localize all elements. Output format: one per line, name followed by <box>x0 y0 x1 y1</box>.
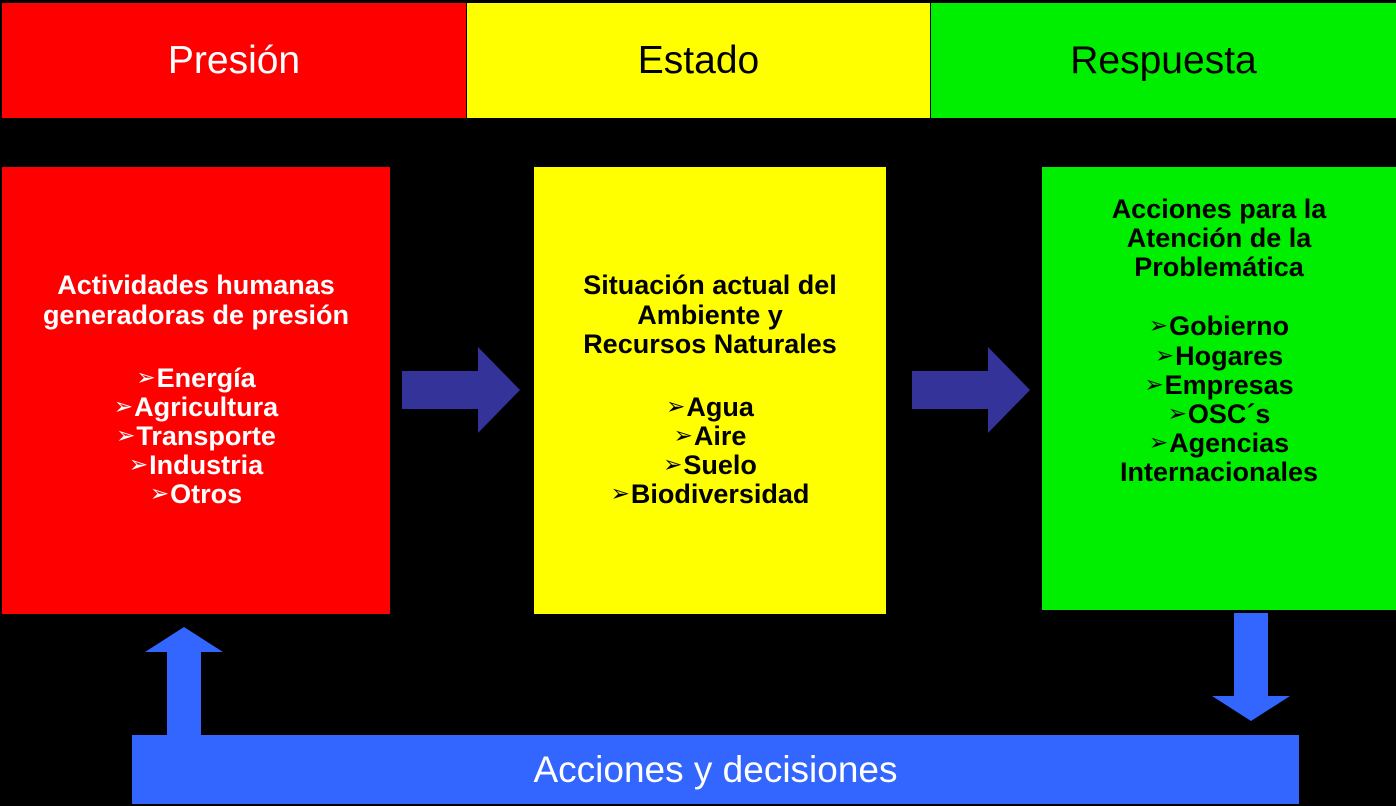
up-arrow-icon-feedback <box>145 627 223 735</box>
list-item-label: Gobierno <box>1169 311 1289 341</box>
bullet-arrow-icon: ➢ <box>116 423 135 449</box>
list-item-label: Otros <box>170 479 242 509</box>
list-item-label: Agua <box>686 392 754 422</box>
bullet-arrow-icon: ➢ <box>663 452 682 478</box>
list-item: ➢Gobierno <box>1050 312 1388 341</box>
down-arrow-icon-response <box>1212 613 1290 721</box>
panel-pressure-list: ➢Energía ➢Agricultura ➢Transporte ➢Indus… <box>10 364 382 510</box>
diagram-canvas: Presión Estado Respuesta Actividades hum… <box>0 0 1396 806</box>
bullet-arrow-icon: ➢ <box>666 394 685 420</box>
list-item-label: Aire <box>694 421 747 451</box>
list-item: ➢Hogares <box>1050 342 1388 371</box>
list-item-label: Suelo <box>683 450 757 480</box>
bullet-arrow-icon: ➢ <box>674 423 693 449</box>
bullet-arrow-icon: ➢ <box>1168 401 1187 427</box>
right-arrow-icon-pressure-to-state <box>402 347 520 433</box>
header-pressure: Presión <box>2 3 466 118</box>
list-item-label: Agricultura <box>134 392 278 422</box>
bullet-arrow-icon: ➢ <box>114 394 133 420</box>
list-item: ➢Suelo <box>542 451 878 480</box>
spacer <box>542 359 878 393</box>
list-item: ➢Agricultura <box>10 393 382 422</box>
bullet-arrow-icon: ➢ <box>1144 372 1163 398</box>
list-item: ➢Otros <box>10 480 382 509</box>
list-item: ➢Aire <box>542 422 878 451</box>
bullet-arrow-icon: ➢ <box>1149 313 1168 339</box>
header-state-label: Estado <box>638 41 759 80</box>
list-item: ➢Industria <box>10 451 382 480</box>
right-arrow-icon-state-to-response <box>912 347 1030 433</box>
bottom-bar-label: Acciones y decisiones <box>533 751 897 788</box>
panel-pressure-title: Actividades humanas generadoras de presi… <box>10 271 382 329</box>
bullet-arrow-icon: ➢ <box>1155 343 1174 369</box>
list-item-label: Biodiversidad <box>631 479 810 509</box>
list-item-label: Empresas <box>1165 370 1294 400</box>
header-pressure-label: Presión <box>168 41 300 80</box>
list-item: ➢Agua <box>542 393 878 422</box>
bullet-arrow-icon: ➢ <box>611 481 630 507</box>
list-item: ➢Transporte <box>10 422 382 451</box>
spacer <box>1050 282 1388 312</box>
panel-state: Situación actual del Ambiente y Recursos… <box>534 167 886 614</box>
header-response: Respuesta <box>931 3 1396 118</box>
header-state: Estado <box>467 3 930 118</box>
bullet-arrow-icon: ➢ <box>150 481 169 507</box>
list-item-label: Transporte <box>136 421 276 451</box>
bullet-arrow-icon: ➢ <box>1149 430 1168 456</box>
list-item-label: Energía <box>157 363 256 393</box>
panel-response: Acciones para la Atención de la Problemá… <box>1042 167 1396 610</box>
list-item: ➢Agencias Internacionales <box>1050 429 1388 487</box>
list-item: ➢Energía <box>10 364 382 393</box>
list-item: ➢OSC´s <box>1050 400 1388 429</box>
panel-state-list: ➢Agua ➢Aire ➢Suelo ➢Biodiversidad <box>542 393 878 510</box>
list-item: ➢Biodiversidad <box>542 480 878 509</box>
bottom-bar-actions-decisions: Acciones y decisiones <box>132 735 1299 804</box>
bullet-arrow-icon: ➢ <box>136 365 155 391</box>
list-item-label: Hogares <box>1175 341 1283 371</box>
list-item-label: Industria <box>149 450 263 480</box>
panel-pressure: Actividades humanas generadoras de presi… <box>2 167 390 614</box>
panel-response-title: Acciones para la Atención de la Problemá… <box>1050 195 1388 282</box>
list-item-label: OSC´s <box>1188 399 1271 429</box>
panel-response-list: ➢Gobierno ➢Hogares ➢Empresas ➢OSC´s ➢Age… <box>1050 312 1388 487</box>
bullet-arrow-icon: ➢ <box>129 452 148 478</box>
panel-state-title: Situación actual del Ambiente y Recursos… <box>542 271 878 358</box>
list-item: ➢Empresas <box>1050 371 1388 400</box>
spacer <box>10 330 382 364</box>
header-response-label: Respuesta <box>1070 41 1256 80</box>
